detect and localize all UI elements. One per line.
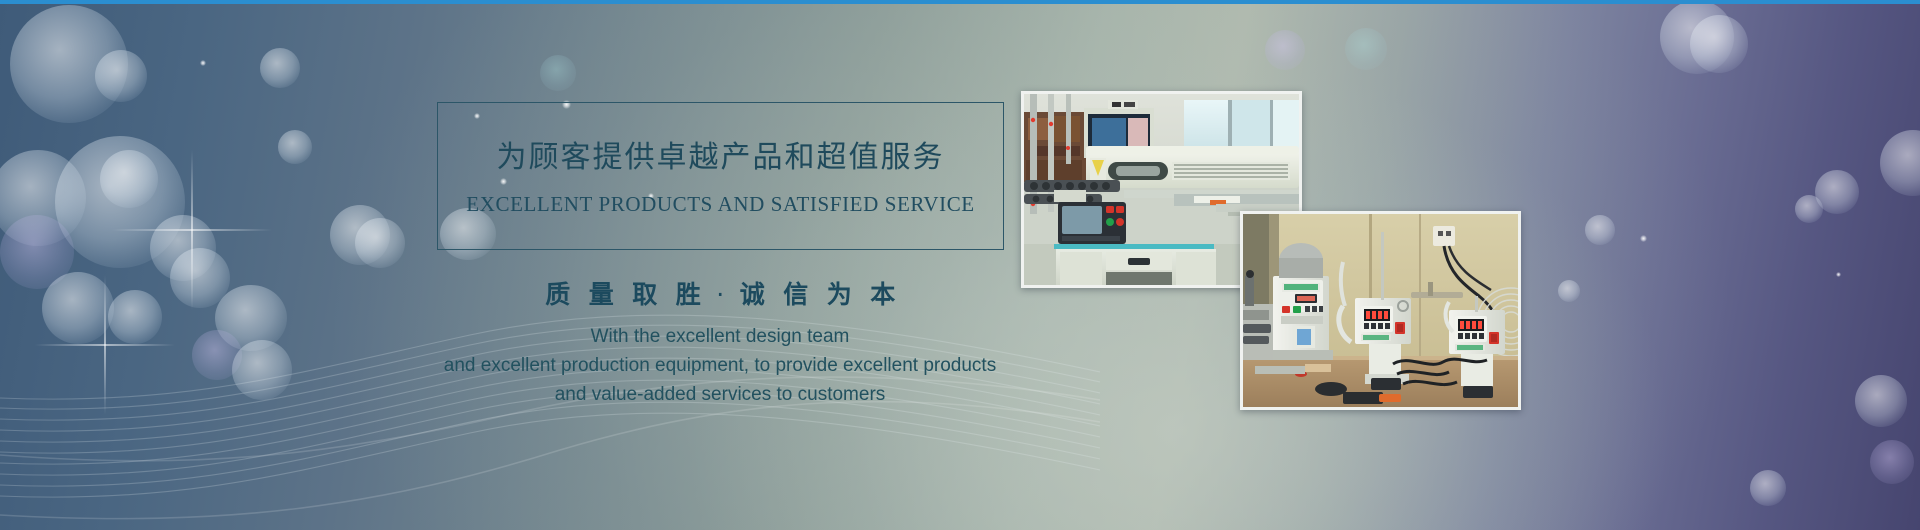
bokeh-circle <box>100 150 158 208</box>
bokeh-circle <box>1870 440 1914 484</box>
slogan-line: 质量取胜·诚信为本 <box>437 275 1004 311</box>
photo-2-content <box>1243 214 1518 407</box>
slogan-char: 量 <box>580 280 624 309</box>
bokeh-circle <box>1690 15 1748 73</box>
headline-chinese: 为顾客提供卓越产品和超值服务 <box>437 132 1004 176</box>
bokeh-circle <box>278 130 312 164</box>
photo-workshop-crimping-machines <box>1240 211 1521 410</box>
promo-banner: 为顾客提供卓越产品和超值服务 EXCELLENT PRODUCTS AND SA… <box>0 0 1920 530</box>
bokeh-circle <box>1660 0 1734 74</box>
slogan-char: 诚 <box>731 280 775 309</box>
bokeh-circle <box>150 215 216 281</box>
bokeh-circle <box>355 218 405 268</box>
slogan-char: 胜 <box>667 280 711 309</box>
bokeh-circle <box>0 150 86 246</box>
paragraph-line: and value-added services to customers <box>330 380 1110 409</box>
headline-english: EXCELLENT PRODUCTS AND SATISFIED SERVICE <box>437 192 1004 217</box>
slogan-char: 本 <box>861 280 905 309</box>
bokeh-circle <box>1265 30 1305 70</box>
paragraph-line: and excellent production equipment, to p… <box>330 351 1110 380</box>
top-accent-rule <box>0 0 1920 4</box>
bokeh-circle <box>1815 170 1859 214</box>
slogan-char: 取 <box>623 280 667 309</box>
sparkle <box>200 60 206 66</box>
bokeh-circle <box>10 5 128 123</box>
description-paragraph: With the excellent design team and excel… <box>330 322 1110 409</box>
bokeh-circle <box>0 215 74 289</box>
bokeh-circle <box>95 50 147 102</box>
bokeh-circle <box>260 48 300 88</box>
bokeh-circle <box>1558 280 1580 302</box>
paragraph-line: With the excellent design team <box>330 322 1110 351</box>
bokeh-circle <box>540 55 576 91</box>
bokeh-circle <box>1880 130 1920 196</box>
bokeh-circle <box>1795 195 1823 223</box>
bokeh-circle <box>330 205 390 265</box>
bokeh-circle <box>1345 28 1387 70</box>
slogan-char: 为 <box>818 280 862 309</box>
bokeh-circle <box>1855 375 1907 427</box>
slogan-char: 信 <box>774 280 818 309</box>
sparkle <box>1836 272 1841 277</box>
bokeh-circle <box>1585 215 1615 245</box>
bokeh-circle <box>55 136 185 268</box>
sparkle <box>1640 235 1647 242</box>
slogan-char: 质 <box>536 280 580 309</box>
bokeh-circle <box>1750 470 1786 506</box>
slogan-separator-dot: · <box>710 280 730 309</box>
headline-frame <box>437 102 1004 250</box>
